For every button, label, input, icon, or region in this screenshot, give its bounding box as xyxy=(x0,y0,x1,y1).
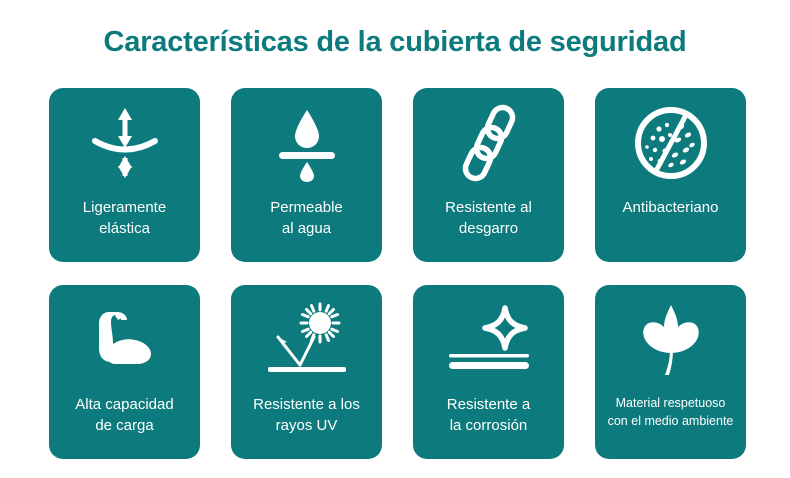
feature-card-label: Antibacteriano xyxy=(617,198,725,219)
leaf-icon xyxy=(595,285,746,395)
feature-card-alta-capacidad-de-carga[interactable]: Alta capacidad de carga xyxy=(49,285,200,459)
feature-card-label: Alta capacidad de carga xyxy=(69,395,179,436)
feature-card-resistente-a-los-rayos-uv[interactable]: Resistente a los rayos UV xyxy=(231,285,382,459)
feature-card-label: Ligeramente elástica xyxy=(77,198,172,239)
chain-link-icon xyxy=(413,88,564,198)
feature-card-label: Resistente al desgarro xyxy=(439,198,538,239)
water-droplet-permeable-icon xyxy=(231,88,382,198)
stretch-arrows-icon xyxy=(49,88,200,198)
sparkle-surface-icon xyxy=(413,285,564,395)
feature-infographic: Características de la cubierta de seguri… xyxy=(0,0,790,478)
feature-card-label: Resistente a los rayos UV xyxy=(247,395,366,436)
feature-card-label: Material respetuoso con el medio ambient… xyxy=(606,395,736,431)
feature-card-material-respetuoso-medio-ambiente[interactable]: Material respetuoso con el medio ambient… xyxy=(595,285,746,459)
feature-card-permeable-al-agua[interactable]: Permeable al agua xyxy=(231,88,382,262)
feature-card-ligeramente-elastica[interactable]: Ligeramente elástica xyxy=(49,88,200,262)
feature-card-antibacteriano[interactable]: Antibacteriano xyxy=(595,88,746,262)
page-title: Características de la cubierta de seguri… xyxy=(0,26,790,59)
feature-card-resistente-a-la-corrosion[interactable]: Resistente a la corrosión xyxy=(413,285,564,459)
feature-card-label: Resistente a la corrosión xyxy=(441,395,536,436)
feature-card-resistente-al-desgarro[interactable]: Resistente al desgarro xyxy=(413,88,564,262)
sun-uv-reflection-icon xyxy=(231,285,382,395)
flexed-bicep-icon xyxy=(49,285,200,395)
petri-dish-bacteria-icon xyxy=(595,88,746,198)
feature-card-grid: Ligeramente elástica Permeable al agua xyxy=(49,88,746,459)
feature-card-label: Permeable al agua xyxy=(264,198,349,239)
